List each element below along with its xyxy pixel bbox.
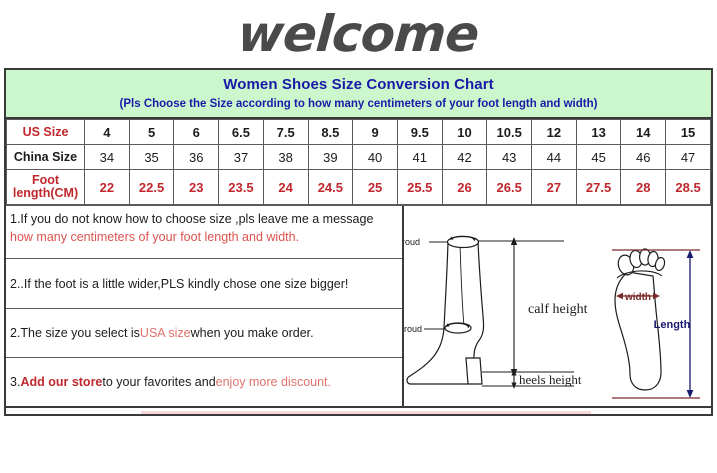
note-4-discount: enjoy more discount.: [216, 374, 331, 392]
cell-china-size-0: 34: [85, 145, 130, 170]
note-item-3: 2.The size you select is USA size when y…: [6, 309, 402, 358]
measurement-diagrams: Top roud Ankel roud calf height heels he…: [404, 206, 711, 406]
foot-width-label: width: [624, 292, 651, 303]
cell-us-size-7: 9.5: [397, 120, 442, 145]
size-conversion-table: US Size 4566.57.58.599.51010.512131415 C…: [6, 119, 711, 205]
conversion-chart: Women Shoes Size Conversion Chart (Pls C…: [4, 68, 713, 406]
cell-foot-length-cm--8: 26: [442, 170, 487, 205]
welcome-banner: welcome: [0, 0, 717, 68]
boot-heel: [466, 358, 482, 384]
note-item-1: 1.If you do not know how to choose size …: [6, 206, 402, 259]
note-item-4: 3.Add our store to your favorites and en…: [6, 358, 402, 406]
table-row-us-size: US Size 4566.57.58.599.51010.512131415: [7, 120, 711, 145]
cell-china-size-3: 37: [219, 145, 264, 170]
cell-foot-length-cm--10: 27: [532, 170, 577, 205]
boot-calf-height-label: calf height: [528, 302, 588, 317]
note-3-usa-size: USA size: [140, 325, 191, 343]
size-chart-page: welcome Women Shoes Size Conversion Char…: [0, 0, 717, 473]
cell-us-size-8: 10: [442, 120, 487, 145]
cell-china-size-7: 41: [397, 145, 442, 170]
cell-us-size-10: 12: [532, 120, 577, 145]
cell-foot-length-cm--5: 24.5: [308, 170, 353, 205]
cell-foot-length-cm--4: 24: [263, 170, 308, 205]
welcome-logo: welcome: [237, 9, 481, 59]
note-4-text-a: 3.: [10, 374, 20, 392]
cell-us-size-5: 8.5: [308, 120, 353, 145]
note-1-line-1: 1.If you do not know how to choose size …: [10, 211, 398, 229]
note-item-2: 2..If the foot is a little wider,PLS kin…: [6, 259, 402, 309]
note-3-text-c: when you make order.: [191, 325, 314, 343]
cell-us-size-11: 13: [576, 120, 621, 145]
cell-foot-length-cm--13: 28.5: [666, 170, 711, 205]
cell-china-size-6: 40: [353, 145, 398, 170]
note-1-line-2: how many centimeters of your foot length…: [10, 229, 398, 247]
table-row-foot-length: Foot length(CM) 2222.52323.52424.52525.5…: [7, 170, 711, 205]
cell-us-size-6: 9: [353, 120, 398, 145]
cell-china-size-4: 38: [263, 145, 308, 170]
cell-us-size-9: 10.5: [487, 120, 532, 145]
cell-us-size-13: 15: [666, 120, 711, 145]
cell-china-size-12: 46: [621, 145, 666, 170]
cut-off-pink-band: [141, 411, 591, 416]
cell-china-size-10: 44: [532, 145, 577, 170]
cell-foot-length-cm--6: 25: [353, 170, 398, 205]
note-3-text-a: 2.The size you select is: [10, 325, 140, 343]
cell-foot-length-cm--12: 28: [621, 170, 666, 205]
cell-china-size-9: 43: [487, 145, 532, 170]
boot-heels-height-label: heels height: [519, 372, 582, 387]
measurement-diagram-panel: Top roud Ankel roud calf height heels he…: [404, 206, 711, 406]
notes-panel: 1.If you do not know how to choose size …: [6, 206, 404, 406]
cell-china-size-5: 39: [308, 145, 353, 170]
cell-china-size-2: 36: [174, 145, 219, 170]
row-label-foot-length: Foot length(CM): [7, 170, 85, 205]
chart-header-banner: Women Shoes Size Conversion Chart (Pls C…: [6, 70, 711, 119]
boot-top-round-label: Top roud: [404, 237, 420, 247]
cell-us-size-1: 5: [129, 120, 174, 145]
cell-china-size-13: 47: [666, 145, 711, 170]
row-label-china-size: China Size: [7, 145, 85, 170]
chart-subtitle: (Pls Choose the Size according to how ma…: [10, 97, 707, 112]
boot-ankle-round-label: Ankel roud: [404, 324, 422, 334]
chart-bottom-section: 1.If you do not know how to choose size …: [6, 205, 711, 406]
foot-width-arrow-right: [653, 293, 660, 300]
cell-foot-length-cm--0: 22: [85, 170, 130, 205]
cell-foot-length-cm--2: 23: [174, 170, 219, 205]
cell-china-size-8: 42: [442, 145, 487, 170]
cell-foot-length-cm--3: 23.5: [219, 170, 264, 205]
note-2-text: 2..If the foot is a little wider,PLS kin…: [10, 276, 348, 294]
cell-foot-length-cm--11: 27.5: [576, 170, 621, 205]
foot-sole-outline: [615, 272, 661, 390]
cell-foot-length-cm--9: 26.5: [487, 170, 532, 205]
foot-length-label: Length: [654, 319, 691, 331]
cell-us-size-12: 14: [621, 120, 666, 145]
cell-china-size-11: 45: [576, 145, 621, 170]
cell-us-size-4: 7.5: [263, 120, 308, 145]
cell-china-size-1: 35: [129, 145, 174, 170]
row-label-us-size: US Size: [7, 120, 85, 145]
foot-length-arrow-top: [687, 250, 694, 258]
note-4-text-c: to your favorites and: [102, 374, 215, 392]
cell-foot-length-cm--7: 25.5: [397, 170, 442, 205]
cell-us-size-2: 6: [174, 120, 219, 145]
foot-length-arrow-bottom: [687, 390, 694, 398]
note-4-add-store: Add our store: [20, 374, 102, 392]
cell-us-size-0: 4: [85, 120, 130, 145]
cut-off-bottom-row: [4, 406, 713, 416]
table-row-china-size: China Size 3435363738394041424344454647: [7, 145, 711, 170]
cell-foot-length-cm--1: 22.5: [129, 170, 174, 205]
cell-us-size-3: 6.5: [219, 120, 264, 145]
chart-title: Women Shoes Size Conversion Chart: [10, 75, 707, 95]
